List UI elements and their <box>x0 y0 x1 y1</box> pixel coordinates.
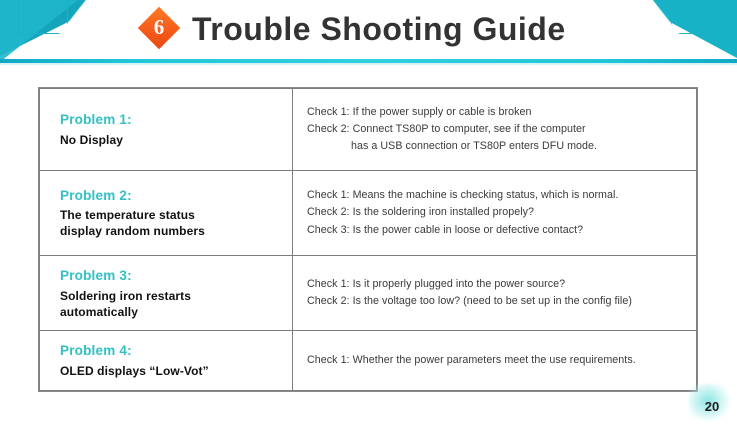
table-row: Problem 1: No Display Check 1: If the po… <box>40 89 697 171</box>
slide-root: 6 Trouble Shooting Guide Problem 1: No D… <box>0 0 737 425</box>
slide-header: 6 Trouble Shooting Guide <box>0 0 737 66</box>
check-line: Check 2: Is the soldering iron installed… <box>307 204 686 221</box>
problem-description-line: display random numbers <box>60 224 292 240</box>
problem-cell: Problem 3: Soldering iron restarts autom… <box>40 256 293 331</box>
problem-cell: Problem 4: OLED displays “Low-Vot” <box>40 331 293 391</box>
check-line: Check 1: If the power supply or cable is… <box>307 104 686 121</box>
right-corner-mask <box>622 0 737 58</box>
table-row: Problem 3: Soldering iron restarts autom… <box>40 256 697 331</box>
table-row: Problem 4: OLED displays “Low-Vot” Check… <box>40 331 697 391</box>
problem-description-line: automatically <box>60 305 292 321</box>
check-line: has a USB connection or TS80P enters DFU… <box>307 138 686 155</box>
problem-cell: Problem 2: The temperature status displa… <box>40 171 293 256</box>
problem-description-line: The temperature status <box>60 208 292 224</box>
problem-label: Problem 2: <box>60 186 292 206</box>
section-number-label: 6 <box>139 8 179 48</box>
check-line: Check 1: Is it properly plugged into the… <box>307 276 686 293</box>
page-number-label: 20 <box>693 392 731 420</box>
check-line: Check 2: Connect TS80P to computer, see … <box>307 121 686 138</box>
checks-cell: Check 1: If the power supply or cable is… <box>293 89 697 171</box>
problem-description: No Display <box>60 133 292 149</box>
problem-label: Problem 3: <box>60 266 292 286</box>
table-row: Problem 2: The temperature status displa… <box>40 171 697 256</box>
checks-cell: Check 1: Means the machine is checking s… <box>293 171 697 256</box>
problem-description-line: Soldering iron restarts <box>60 289 292 305</box>
check-line: Check 2: Is the voltage too low? (need t… <box>307 293 686 310</box>
header-divider-shadow <box>0 63 737 65</box>
check-line: Check 1: Whether the power parameters me… <box>307 352 686 369</box>
page-title: Trouble Shooting Guide <box>192 6 566 52</box>
problem-label: Problem 4: <box>60 341 292 361</box>
page-number-badge: 20 <box>693 392 731 420</box>
problem-description: OLED displays “Low-Vot” <box>60 364 292 380</box>
left-corner-mask <box>0 0 118 58</box>
problem-description: Soldering iron restarts automatically <box>60 289 292 321</box>
checks-cell: Check 1: Whether the power parameters me… <box>293 331 697 391</box>
check-line: Check 1: Means the machine is checking s… <box>307 187 686 204</box>
check-line: Check 3: Is the power cable in loose or … <box>307 222 686 239</box>
troubleshooting-table: Problem 1: No Display Check 1: If the po… <box>38 87 698 392</box>
problem-label: Problem 1: <box>60 110 292 130</box>
problem-cell: Problem 1: No Display <box>40 89 293 171</box>
problem-description: The temperature status display random nu… <box>60 208 292 240</box>
checks-cell: Check 1: Is it properly plugged into the… <box>293 256 697 331</box>
section-number-badge: 6 <box>139 8 179 48</box>
